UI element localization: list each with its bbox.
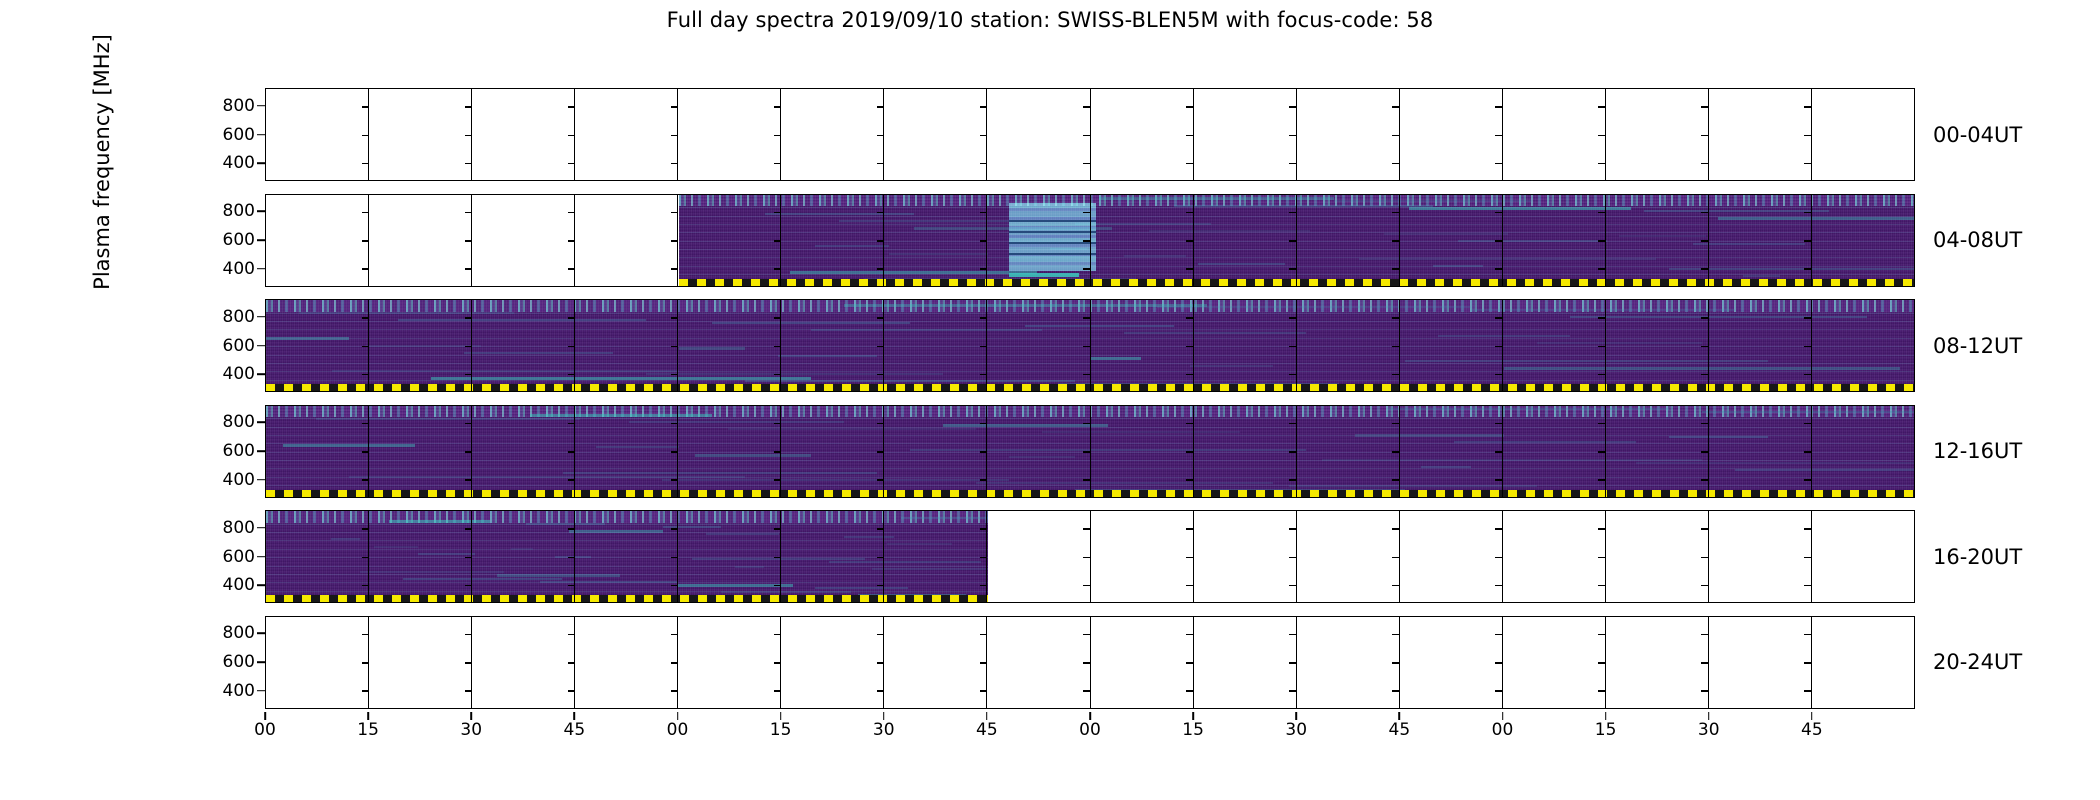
- inner-tick: [1083, 662, 1090, 664]
- inner-tick: [1598, 662, 1605, 664]
- x-tick-mark: [1502, 712, 1504, 720]
- inner-tick: [1083, 106, 1090, 108]
- inner-tick: [568, 240, 575, 242]
- inner-tick: [1701, 662, 1708, 664]
- panel-cell: [1709, 511, 1812, 602]
- inner-tick: [1804, 585, 1811, 587]
- inner-tick: [1289, 634, 1296, 636]
- y-tick-label: 800: [223, 412, 255, 432]
- y-tick-mark: [257, 210, 265, 212]
- y-tick-mark: [257, 268, 265, 270]
- inner-tick: [1186, 634, 1193, 636]
- panel-cell: [987, 89, 1090, 180]
- panel-cell: [266, 195, 369, 286]
- inner-tick: [877, 690, 884, 692]
- inner-tick: [1289, 662, 1296, 664]
- inner-tick: [568, 662, 575, 664]
- inner-tick: [1083, 528, 1090, 530]
- x-tick-label: 45: [564, 720, 586, 740]
- inner-tick: [774, 690, 781, 692]
- inner-tick: [877, 106, 884, 108]
- y-tick-mark: [257, 105, 265, 107]
- panel-cell: [472, 89, 575, 180]
- inner-tick: [1495, 557, 1502, 559]
- x-tick-mark: [1811, 712, 1813, 720]
- coverage-marker: [266, 595, 988, 602]
- inner-tick: [671, 212, 678, 214]
- inner-tick: [362, 163, 369, 165]
- panel-cell: [1606, 89, 1709, 180]
- x-axis: 00153045001530450015304500153045: [265, 712, 1915, 752]
- inner-tick: [671, 135, 678, 137]
- panel-cell: [1812, 89, 1914, 180]
- inner-tick: [465, 135, 472, 137]
- inner-tick: [568, 690, 575, 692]
- x-tick-mark: [1295, 712, 1297, 720]
- inner-tick: [877, 163, 884, 165]
- inner-tick: [1392, 585, 1399, 587]
- inner-tick: [1083, 135, 1090, 137]
- inner-tick: [568, 135, 575, 137]
- y-tick-label: 400: [223, 470, 255, 490]
- y-tick-label: 600: [223, 547, 255, 567]
- y-tick-mark: [257, 374, 265, 376]
- panel-cell: [575, 617, 678, 708]
- inner-tick: [980, 106, 987, 108]
- panel-cell: [266, 89, 369, 180]
- inner-tick: [980, 163, 987, 165]
- inner-tick: [362, 634, 369, 636]
- inner-tick: [1289, 528, 1296, 530]
- panel-cell: [884, 89, 987, 180]
- inner-tick: [568, 634, 575, 636]
- inner-tick: [1392, 163, 1399, 165]
- x-tick-mark: [883, 712, 885, 720]
- inner-tick: [1804, 106, 1811, 108]
- inner-tick: [1598, 557, 1605, 559]
- x-tick-mark: [574, 712, 576, 720]
- inner-tick: [362, 212, 369, 214]
- inner-tick: [671, 662, 678, 664]
- spectrogram-image: [266, 511, 988, 602]
- y-tick-mark: [257, 450, 265, 452]
- panel-cell: [472, 617, 575, 708]
- panel-cell: [1194, 511, 1297, 602]
- inner-tick: [1598, 106, 1605, 108]
- inner-tick: [1701, 528, 1708, 530]
- spectrogram-image: [266, 300, 1915, 391]
- panel-cell: [1194, 617, 1297, 708]
- inner-tick: [1392, 634, 1399, 636]
- inner-tick: [465, 690, 472, 692]
- inner-tick: [1289, 135, 1296, 137]
- inner-tick: [1495, 585, 1502, 587]
- inner-tick: [877, 135, 884, 137]
- inner-tick: [1598, 585, 1605, 587]
- panel-cell: [1091, 89, 1194, 180]
- panel-cell: [1503, 89, 1606, 180]
- y-tick-label: 400: [223, 259, 255, 279]
- inner-tick: [774, 135, 781, 137]
- inner-tick: [568, 268, 575, 270]
- inner-tick: [465, 240, 472, 242]
- inner-tick: [1495, 662, 1502, 664]
- x-tick-label: 15: [357, 720, 379, 740]
- x-tick-label: 15: [1182, 720, 1204, 740]
- spectrogram-row-12-16ut[interactable]: [265, 405, 1915, 498]
- y-tick-mark: [257, 527, 265, 529]
- row-time-label: 12-16UT: [1933, 439, 2022, 463]
- inner-tick: [362, 135, 369, 137]
- inner-tick: [1804, 163, 1811, 165]
- y-tick-label: 400: [223, 153, 255, 173]
- panel-cell: [1297, 617, 1400, 708]
- y-tick-mark: [257, 690, 265, 692]
- panel-cell: [1297, 511, 1400, 602]
- inner-tick: [1186, 135, 1193, 137]
- inner-tick: [362, 268, 369, 270]
- panel-cell: [1503, 511, 1606, 602]
- row-time-label: 04-08UT: [1933, 228, 2022, 252]
- inner-tick: [1804, 662, 1811, 664]
- spectrogram-row-08-12ut[interactable]: [265, 299, 1915, 392]
- inner-tick: [362, 690, 369, 692]
- inner-tick: [465, 163, 472, 165]
- inner-tick: [1598, 634, 1605, 636]
- y-tick-label: 600: [223, 441, 255, 461]
- inner-tick: [774, 163, 781, 165]
- inner-tick: [1392, 528, 1399, 530]
- inner-tick: [1289, 557, 1296, 559]
- y-tick-label: 600: [223, 336, 255, 356]
- inner-tick: [465, 212, 472, 214]
- inner-tick: [980, 662, 987, 664]
- panel-cell: [1709, 617, 1812, 708]
- x-tick-label: 45: [1801, 720, 1823, 740]
- inner-tick: [568, 212, 575, 214]
- panel-cell: [1400, 89, 1503, 180]
- x-tick-mark: [1192, 712, 1194, 720]
- x-tick-mark: [1708, 712, 1710, 720]
- x-tick-mark: [780, 712, 782, 720]
- panel-cell: [987, 617, 1090, 708]
- y-tick-label: 800: [223, 96, 255, 116]
- inner-tick: [1495, 690, 1502, 692]
- panel-cell: [1091, 617, 1194, 708]
- y-tick-mark: [257, 585, 265, 587]
- y-tick-label: 600: [223, 230, 255, 250]
- y-tick-label: 600: [223, 125, 255, 145]
- panel-cell: [781, 617, 884, 708]
- inner-tick: [1804, 690, 1811, 692]
- inner-tick: [1289, 106, 1296, 108]
- inner-tick: [362, 662, 369, 664]
- spectrogram-grid: 80060040000-04UT80060040004-08UT80060040…: [265, 88, 1915, 712]
- y-tick-label: 800: [223, 518, 255, 538]
- panel-cell: [1812, 511, 1914, 602]
- row-time-label: 00-04UT: [1933, 123, 2022, 147]
- spectrogram-row-04-08ut[interactable]: [265, 194, 1915, 287]
- inner-tick: [1804, 634, 1811, 636]
- y-tick-mark: [257, 661, 265, 663]
- x-tick-mark: [1089, 712, 1091, 720]
- inner-tick: [568, 106, 575, 108]
- inner-tick: [465, 634, 472, 636]
- spectrogram-row-00-04ut[interactable]: [265, 88, 1915, 181]
- inner-tick: [774, 634, 781, 636]
- inner-tick: [774, 662, 781, 664]
- inner-tick: [1186, 163, 1193, 165]
- inner-tick: [1495, 528, 1502, 530]
- inner-tick: [1701, 585, 1708, 587]
- inner-tick: [465, 662, 472, 664]
- spectrogram-image: [266, 406, 1915, 497]
- inner-tick: [1598, 528, 1605, 530]
- inner-tick: [1083, 690, 1090, 692]
- inner-tick: [1701, 557, 1708, 559]
- inner-tick: [1392, 135, 1399, 137]
- panel-cell: [1606, 511, 1709, 602]
- y-tick-mark: [257, 632, 265, 634]
- panel-cell: [266, 617, 369, 708]
- inner-tick: [1701, 634, 1708, 636]
- coverage-marker: [266, 490, 1915, 497]
- panel-cell: [1606, 617, 1709, 708]
- inner-tick: [671, 268, 678, 270]
- panel-cell: [678, 617, 781, 708]
- panel-cell: [884, 617, 987, 708]
- inner-tick: [1083, 557, 1090, 559]
- inner-tick: [465, 106, 472, 108]
- x-tick-label: 30: [1698, 720, 1720, 740]
- inner-tick: [1289, 690, 1296, 692]
- inner-tick: [1289, 163, 1296, 165]
- inner-tick: [877, 662, 884, 664]
- inner-tick: [980, 634, 987, 636]
- inner-tick: [1083, 634, 1090, 636]
- x-tick-label: 30: [460, 720, 482, 740]
- x-tick-label: 00: [667, 720, 689, 740]
- panel-cell: [1503, 617, 1606, 708]
- panel-cell: [472, 195, 575, 286]
- inner-tick: [1701, 106, 1708, 108]
- inner-tick: [671, 163, 678, 165]
- y-tick-label: 800: [223, 307, 255, 327]
- inner-tick: [1495, 634, 1502, 636]
- inner-tick: [1495, 135, 1502, 137]
- inner-tick: [671, 106, 678, 108]
- inner-tick: [671, 634, 678, 636]
- inner-tick: [1083, 585, 1090, 587]
- y-tick-label: 400: [223, 681, 255, 701]
- y-tick-mark: [257, 479, 265, 481]
- row-time-label: 08-12UT: [1933, 334, 2022, 358]
- x-tick-label: 30: [1285, 720, 1307, 740]
- inner-tick: [877, 634, 884, 636]
- y-tick-mark: [257, 556, 265, 558]
- panel-cell: [1812, 617, 1914, 708]
- row-time-label: 16-20UT: [1933, 545, 2022, 569]
- inner-tick: [1392, 557, 1399, 559]
- row-time-label: 20-24UT: [1933, 650, 2022, 674]
- y-tick-label: 800: [223, 201, 255, 221]
- y-tick-label: 400: [223, 364, 255, 384]
- x-tick-label: 15: [770, 720, 792, 740]
- x-tick-label: 30: [873, 720, 895, 740]
- inner-tick: [1495, 106, 1502, 108]
- inner-tick: [1392, 662, 1399, 664]
- panel-cell: [1091, 511, 1194, 602]
- panel-cell: [1297, 89, 1400, 180]
- inner-tick: [1186, 106, 1193, 108]
- coverage-marker: [679, 279, 1916, 286]
- inner-tick: [1598, 690, 1605, 692]
- spectrogram-row-20-24ut[interactable]: [265, 616, 1915, 709]
- inner-tick: [1083, 163, 1090, 165]
- inner-tick: [465, 268, 472, 270]
- y-axis-label: Plasma frequency [MHz]: [90, 0, 114, 372]
- panel-cell: [575, 195, 678, 286]
- x-tick-label: 45: [1389, 720, 1411, 740]
- x-tick-mark: [986, 712, 988, 720]
- y-tick-label: 800: [223, 623, 255, 643]
- inner-tick: [1495, 163, 1502, 165]
- panel-cell: [781, 89, 884, 180]
- y-tick-mark: [257, 316, 265, 318]
- spectrogram-image: [679, 195, 1916, 286]
- page-title: Full day spectra 2019/09/10 station: SWI…: [0, 8, 2100, 32]
- inner-tick: [1598, 163, 1605, 165]
- y-tick-mark: [257, 163, 265, 165]
- inner-tick: [1804, 557, 1811, 559]
- panel-cell: [369, 617, 472, 708]
- y-tick-label: 400: [223, 575, 255, 595]
- x-tick-label: 45: [976, 720, 998, 740]
- inner-tick: [1392, 106, 1399, 108]
- inner-tick: [774, 106, 781, 108]
- inner-tick: [1701, 135, 1708, 137]
- x-tick-mark: [1399, 712, 1401, 720]
- x-tick-mark: [677, 712, 679, 720]
- inner-tick: [1289, 585, 1296, 587]
- panel-cell: [1400, 511, 1503, 602]
- x-tick-mark: [367, 712, 369, 720]
- inner-tick: [362, 240, 369, 242]
- inner-tick: [568, 163, 575, 165]
- radio-burst-feature: [1009, 203, 1097, 271]
- panel-cell: [369, 195, 472, 286]
- panel-cell: [369, 89, 472, 180]
- x-tick-label: 00: [254, 720, 276, 740]
- coverage-marker: [266, 384, 1915, 391]
- inner-tick: [1392, 690, 1399, 692]
- inner-tick: [671, 240, 678, 242]
- inner-tick: [980, 690, 987, 692]
- y-tick-mark: [257, 239, 265, 241]
- y-tick-mark: [257, 345, 265, 347]
- inner-tick: [1701, 163, 1708, 165]
- inner-tick: [1186, 528, 1193, 530]
- panel-cell: [575, 89, 678, 180]
- inner-tick: [1598, 135, 1605, 137]
- inner-tick: [1804, 135, 1811, 137]
- panel-cell: [1709, 89, 1812, 180]
- x-tick-label: 15: [1595, 720, 1617, 740]
- inner-tick: [1186, 662, 1193, 664]
- inner-tick: [1186, 690, 1193, 692]
- inner-tick: [1186, 557, 1193, 559]
- x-tick-label: 00: [1079, 720, 1101, 740]
- inner-tick: [1804, 528, 1811, 530]
- x-tick-label: 00: [1492, 720, 1514, 740]
- spectrogram-row-16-20ut[interactable]: [265, 510, 1915, 603]
- panel-cell: [678, 89, 781, 180]
- inner-tick: [362, 106, 369, 108]
- y-tick-mark: [257, 134, 265, 136]
- x-tick-mark: [470, 712, 472, 720]
- y-tick-label: 600: [223, 652, 255, 672]
- x-tick-mark: [264, 712, 266, 720]
- inner-tick: [1186, 585, 1193, 587]
- y-tick-mark: [257, 421, 265, 423]
- panel-cell: [987, 511, 1090, 602]
- panel-cell: [1194, 89, 1297, 180]
- inner-tick: [1701, 690, 1708, 692]
- x-tick-mark: [1605, 712, 1607, 720]
- inner-tick: [671, 690, 678, 692]
- panel-cell: [1400, 617, 1503, 708]
- inner-tick: [980, 135, 987, 137]
